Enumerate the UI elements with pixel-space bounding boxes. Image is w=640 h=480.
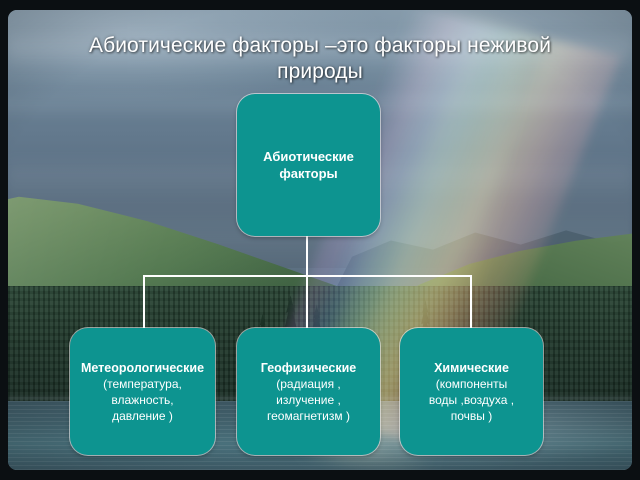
node-geophysical-line-2: излучение , (276, 392, 341, 408)
node-chemical-label: Химические (434, 360, 509, 376)
node-meteorological-line-2: влажность, (111, 392, 173, 408)
node-geophysical-line-1: (радиация , (276, 376, 340, 392)
connector-drop-right (470, 275, 472, 329)
node-chemical-line-1: (компоненты (436, 376, 508, 392)
slide-title: Абиотические факторы –это факторы неживо… (52, 33, 588, 85)
connector-drop-mid (306, 275, 308, 329)
slide-canvas: Абиотические факторы –это факторы неживо… (0, 0, 640, 480)
node-chemical[interactable]: Химические (компоненты воды ,воздуха , п… (400, 328, 543, 455)
node-meteorological-line-3: давление ) (112, 408, 173, 424)
node-geophysical-line-3: геомагнетизм ) (267, 408, 350, 424)
node-geophysical-label: Геофизические (261, 360, 356, 376)
node-chemical-line-2: воды ,воздуха , (429, 392, 514, 408)
node-chemical-line-3: почвы ) (451, 408, 493, 424)
connector-root-stem (306, 236, 308, 276)
node-abiotic-factors[interactable]: Абиотические факторы (237, 94, 380, 236)
connector-drop-left (143, 275, 145, 329)
node-geophysical[interactable]: Геофизические (радиация , излучение , ге… (237, 328, 380, 455)
connector-horizontal (144, 275, 472, 277)
node-root-label: Абиотические факторы (245, 148, 372, 182)
node-meteorological[interactable]: Метеорологические (температура, влажност… (70, 328, 215, 455)
node-meteorological-label: Метеорологические (81, 360, 204, 376)
node-meteorological-line-1: (температура, (103, 376, 182, 392)
